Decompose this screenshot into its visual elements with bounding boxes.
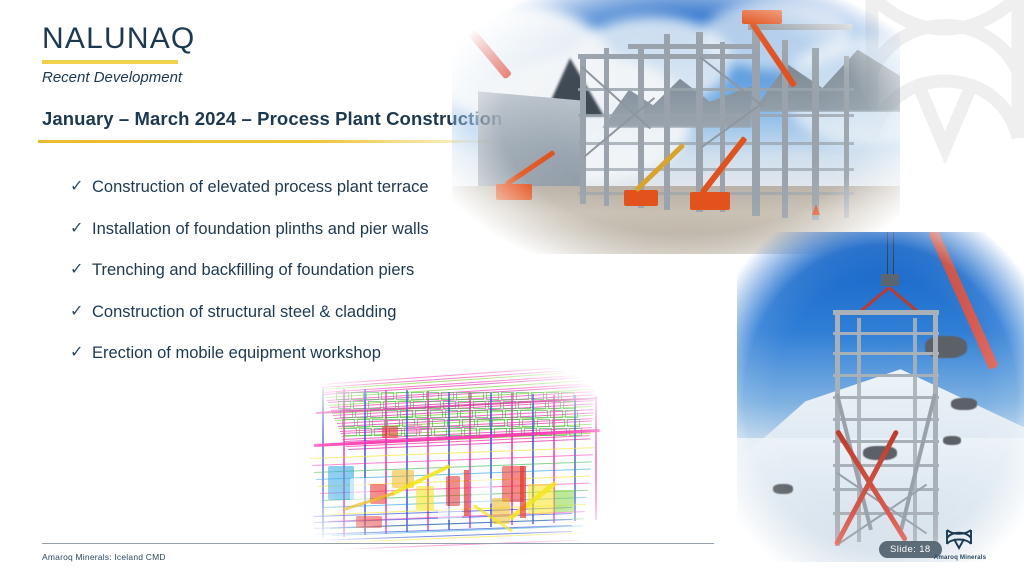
list-item: ✓ Construction of elevated process plant… [70, 176, 490, 198]
brand-block: NALUNAQ Recent Development [42, 24, 195, 86]
list-item: ✓ Construction of structural steel & cla… [70, 301, 490, 323]
process-plant-steel-frame-photo [452, 0, 900, 254]
amaroq-fox-logo-icon [944, 528, 974, 550]
list-item-label: Construction of structural steel & cladd… [92, 301, 397, 323]
footer-label: Amaroq Minerals: Iceland CMD [42, 552, 166, 562]
list-item-label: Erection of mobile equipment workshop [92, 342, 381, 364]
check-icon: ✓ [70, 259, 92, 281]
check-icon: ✓ [70, 176, 92, 198]
check-icon: ✓ [70, 301, 92, 323]
list-item-label: Construction of elevated process plant t… [92, 176, 429, 198]
list-item-label: Installation of foundation plinths and p… [92, 218, 429, 240]
check-icon: ✓ [70, 218, 92, 240]
check-icon: ✓ [70, 342, 92, 364]
list-item: ✓ Erection of mobile equipment workshop [70, 342, 490, 364]
list-item: ✓ Installation of foundation plinths and… [70, 218, 490, 240]
logo-label: Amaroq Minerals [924, 554, 996, 561]
truss-lift-photo [737, 232, 1024, 562]
list-item: ✓ Trenching and backfilling of foundatio… [70, 259, 490, 281]
bullet-list: ✓ Construction of elevated process plant… [70, 176, 490, 384]
brand-subtitle: Recent Development [42, 69, 195, 86]
page-title: January – March 2024 – Process Plant Con… [42, 108, 502, 130]
heading-rule [38, 140, 508, 143]
brand-rule [42, 60, 178, 64]
list-item-label: Trenching and backfilling of foundation … [92, 259, 414, 281]
cad-model-render [296, 366, 614, 556]
footer-divider [42, 543, 714, 544]
brand-name: NALUNAQ [42, 24, 195, 54]
presentation-slide: NALUNAQ Recent Development January – Mar… [0, 0, 1024, 576]
